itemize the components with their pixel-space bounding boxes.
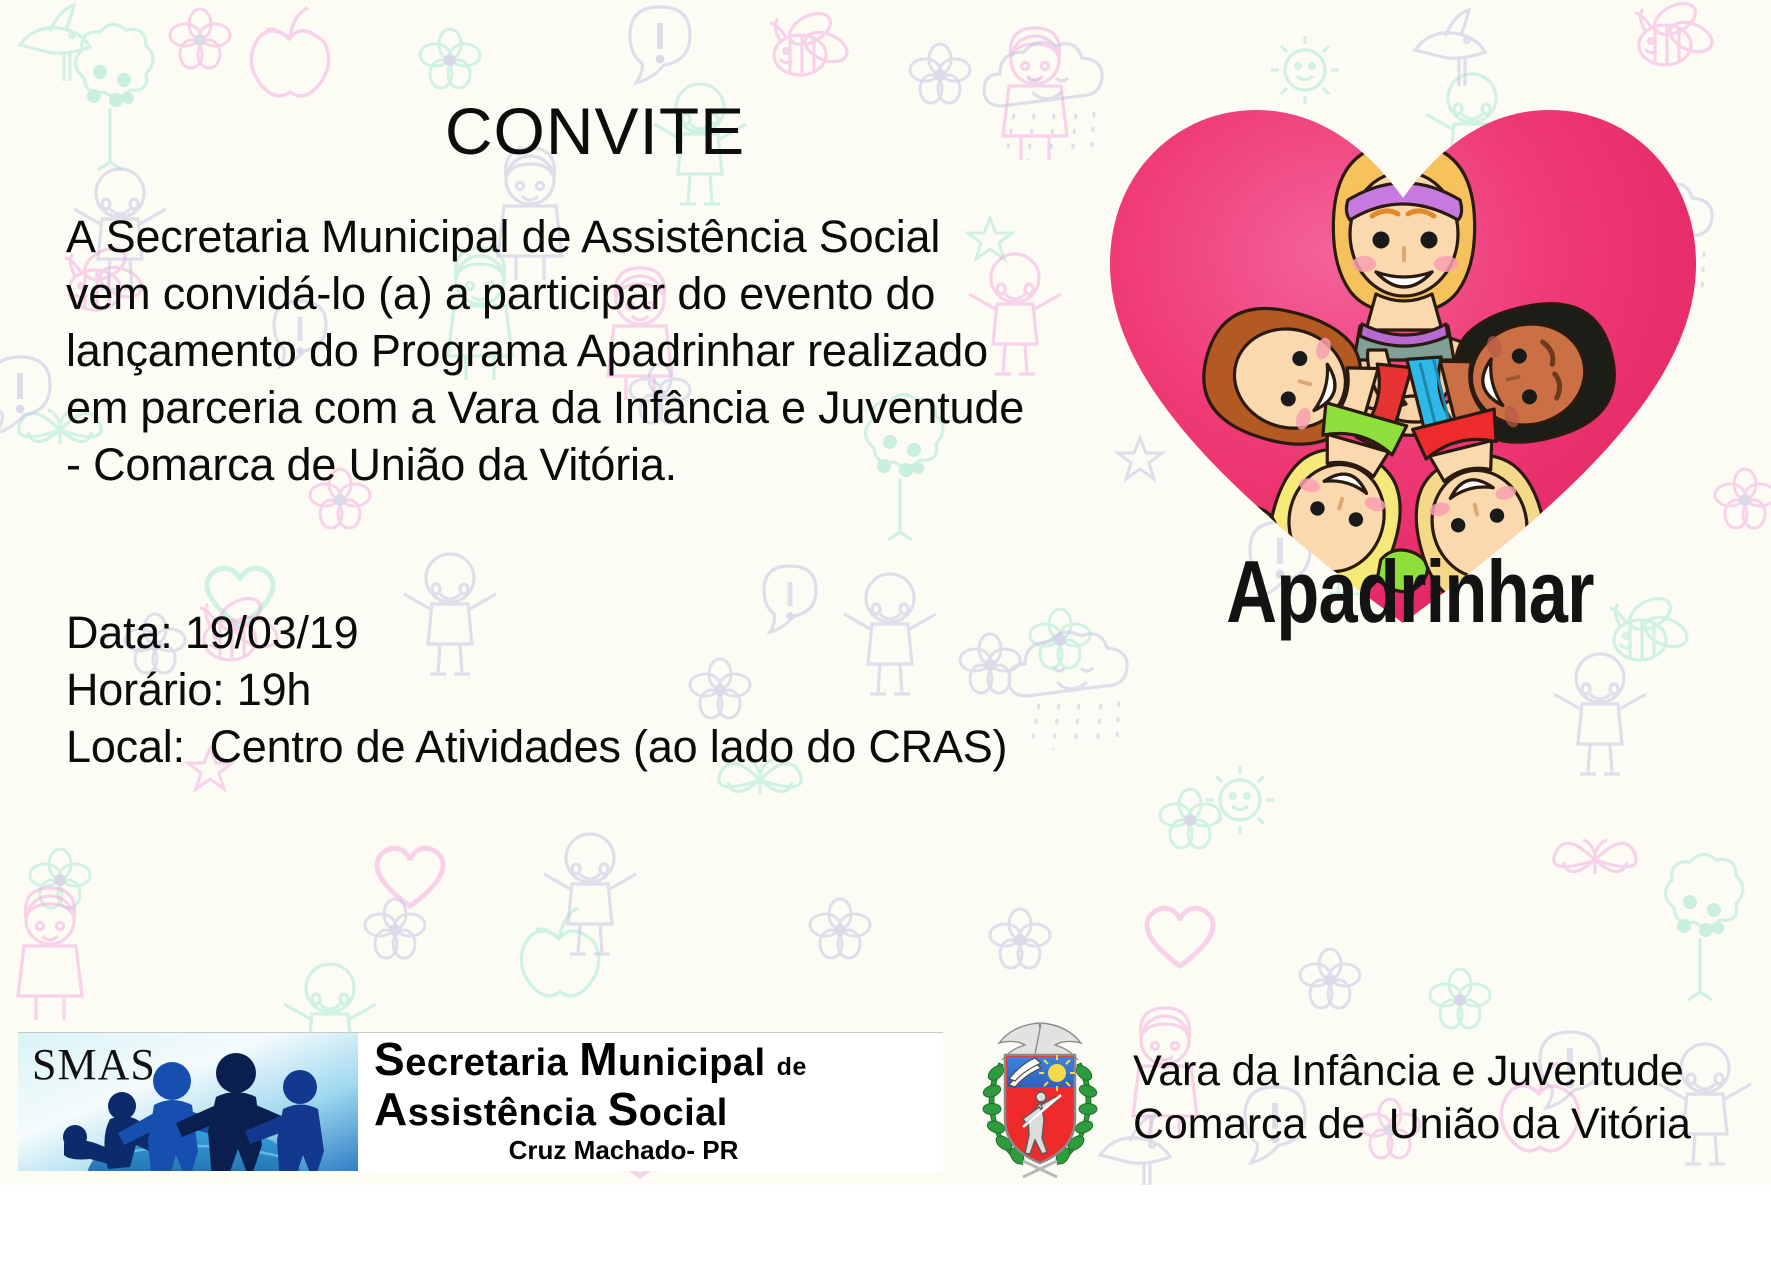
invitation-body-text: A Secretaria Municipal de Assistência So… [66,208,1026,493]
vara-infancia-block: Vara da Infância e Juventude Comarca de … [965,1015,1755,1180]
poster-canvas: CONVITE A Secretaria Municipal de Assist… [0,0,1771,1185]
smas-line1-word1: ecretaria [405,1042,579,1084]
smas-line1-initial: S [374,1033,405,1085]
page-title: CONVITE [405,98,785,164]
smas-line2-word2: ocial [639,1092,728,1134]
smas-title-text: Secretaria Municipal de Assistência Soci… [358,1033,943,1171]
svg-text:SMAS: SMAS [32,1040,156,1089]
parana-coat-of-arms-icon [965,1015,1115,1180]
event-place-line: Local: Centro de Atividades (ao lado do … [66,718,1007,775]
smas-line2-word1: ssistência [408,1092,608,1134]
event-time-line: Horário: 19h [66,661,1007,718]
smas-line1-initial2: M [579,1033,618,1085]
event-date-line: Data: 19/03/19 [66,604,1007,661]
vara-line-2: Comarca de União da Vitória [1133,1098,1691,1151]
people-holding-hands-on-globe-icon: SMAS [18,1033,358,1171]
smas-city-line: Cruz Machado- PR [374,1134,943,1166]
smas-line1-de: de [777,1053,807,1081]
vara-line-1: Vara da Infância e Juventude [1133,1045,1691,1098]
smas-line2-initial: A [374,1083,408,1135]
vara-text-lines: Vara da Infância e Juventude Comarca de … [1115,1045,1691,1151]
apadrinhar-wordmark: Apadrinhar [1130,548,1690,636]
smas-line1-word2: unicipal [618,1042,777,1084]
smas-line2-initial2: S [608,1083,639,1135]
smas-banner: SMAS [18,1032,943,1171]
event-details-block: Data: 19/03/19 Horário: 19h Local: Centr… [66,604,1007,775]
